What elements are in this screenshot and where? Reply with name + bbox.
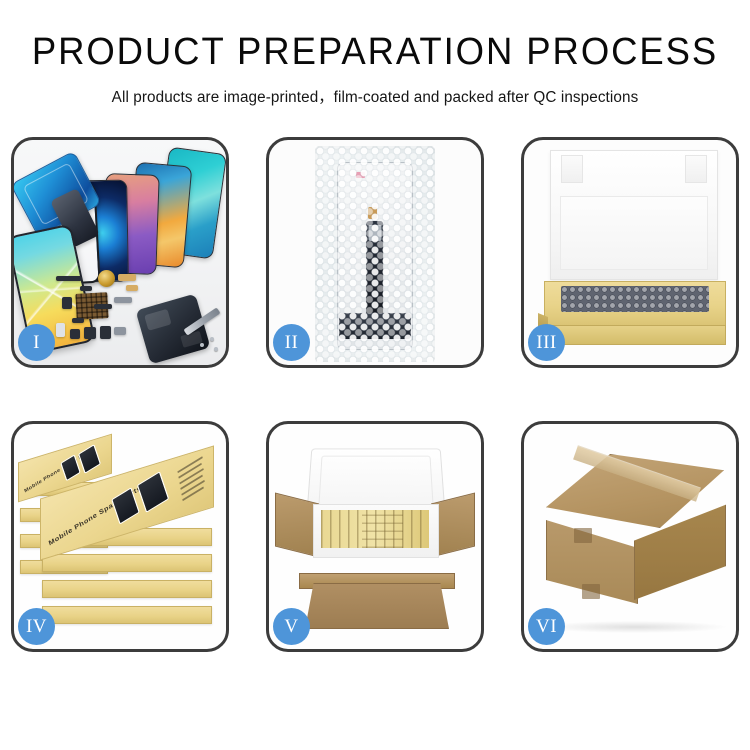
connector-strip-icon bbox=[56, 276, 82, 281]
step-badge-3: III bbox=[528, 324, 565, 361]
page-header: PRODUCT PREPARATION PROCESS All products… bbox=[0, 0, 750, 107]
antenna-strip-icon bbox=[114, 297, 132, 303]
flex-cable-2-icon bbox=[126, 285, 138, 291]
process-step-panel-3[interactable]: III bbox=[521, 137, 739, 368]
screw-2-icon bbox=[200, 343, 204, 347]
stacked-box-f4 bbox=[42, 606, 212, 624]
metal-bracket-icon bbox=[114, 327, 126, 335]
screw-3-icon bbox=[214, 347, 218, 351]
kraft-box-tray-icon bbox=[544, 281, 726, 329]
sim-tray-icon bbox=[56, 323, 65, 337]
step-badge-5: V bbox=[273, 608, 310, 645]
camera-module-icon bbox=[62, 297, 72, 309]
process-step-panel-2[interactable]: II bbox=[266, 137, 484, 368]
button-part-icon bbox=[70, 329, 80, 339]
box-thumbnail-d bbox=[137, 471, 169, 513]
carton-label-lower-icon bbox=[582, 584, 600, 599]
bubble-wrapped-contents-icon bbox=[561, 286, 709, 312]
carton-label-upper-icon bbox=[574, 528, 592, 543]
bubble-wrap-bag-icon bbox=[315, 146, 435, 362]
vibrator-icon bbox=[84, 327, 96, 339]
lid-tab-left-icon bbox=[561, 155, 583, 183]
stacked-box-f2 bbox=[42, 554, 212, 572]
page-subtitle: All products are image-printed，film-coat… bbox=[6, 85, 745, 107]
box-front-panel-icon bbox=[544, 325, 726, 345]
process-step-grid: I II bbox=[11, 137, 739, 652]
step-badge-2: II bbox=[273, 324, 310, 361]
process-step-panel-4[interactable]: Mobile Phone Spare Parts Mobile Phone Sp… bbox=[11, 421, 229, 652]
process-step-panel-5[interactable]: V bbox=[266, 421, 484, 652]
lid-tab-right-icon bbox=[685, 155, 707, 183]
page-title: PRODUCT PREPARATION PROCESS bbox=[15, 33, 735, 71]
small-part-b-icon bbox=[72, 318, 84, 323]
stacked-box-f3 bbox=[42, 580, 212, 598]
process-step-panel-6[interactable]: VI bbox=[521, 421, 739, 652]
yellow-boxes-inside-icon bbox=[321, 510, 429, 548]
process-step-panel-1[interactable]: I bbox=[11, 137, 229, 368]
bubble-texture-overlay-icon bbox=[315, 146, 435, 362]
small-part-a-icon bbox=[80, 286, 92, 291]
carton-shadow bbox=[544, 621, 726, 633]
step-badge-6: VI bbox=[528, 608, 565, 645]
speaker-coil-icon bbox=[98, 270, 115, 287]
flex-cable-icon bbox=[118, 274, 136, 281]
box-spec-line-6 bbox=[182, 486, 203, 500]
ribbon-cable-icon bbox=[94, 304, 112, 309]
screw-1-icon bbox=[210, 337, 214, 341]
carton-front-icon bbox=[305, 583, 449, 629]
step-badge-4: IV bbox=[18, 608, 55, 645]
step-badge-1: I bbox=[18, 324, 55, 361]
box-thumbnail-b bbox=[78, 444, 101, 474]
foam-sheet-icon bbox=[560, 196, 708, 270]
charging-port-icon bbox=[100, 326, 111, 339]
